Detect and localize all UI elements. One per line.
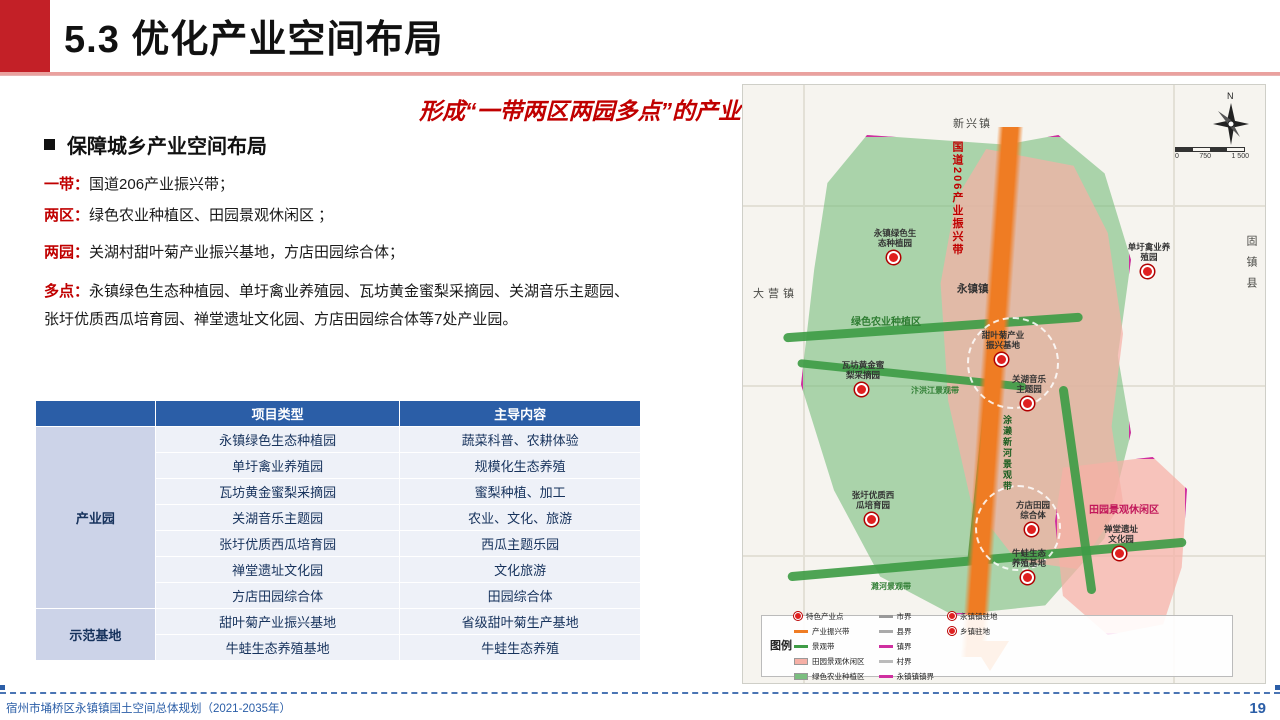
table-cell: 蜜梨种植、加工 xyxy=(400,479,641,505)
square-bullet-icon xyxy=(44,139,55,150)
table-cell: 省级甜叶菊生产基地 xyxy=(400,609,641,635)
table-cell: 西瓜主题乐园 xyxy=(400,531,641,557)
legend-item: 特色产业点 xyxy=(794,611,865,622)
legend-label: 永镇镇驻地 xyxy=(960,611,998,622)
legend-item: 永镇镇驻地 xyxy=(948,611,998,622)
point-key: 一带： xyxy=(44,176,89,193)
map-site-marker[interactable] xyxy=(1141,265,1154,278)
point-item: 两区：绿色农业种植区、田园景观休闲区 ； xyxy=(44,205,333,228)
legend-item: 景观带 xyxy=(794,641,865,652)
table-body: 产业园永镇绿色生态种植园蔬菜科普、农耕体验单圩禽业养殖园规模化生态养殖瓦坊黄金蜜… xyxy=(36,427,641,661)
corridor-label: 国道206产业振兴带 xyxy=(949,141,965,256)
footer-square-right xyxy=(1275,685,1280,690)
legend-title: 图例 xyxy=(768,640,794,652)
legend-label: 镇界 xyxy=(897,641,912,652)
table-cell: 牛蛙生态养殖基地 xyxy=(155,635,400,661)
table-cell: 农业、文化、旅游 xyxy=(400,505,641,531)
point-value: 绿色农业种植区、田园景观休闲区 ； xyxy=(89,207,333,224)
legend-swatch-icon xyxy=(879,675,893,678)
point-item: 一带：国道206产业振兴带； xyxy=(44,174,234,197)
compass-icon: N xyxy=(1211,91,1251,145)
scale-bar-ticks xyxy=(1175,147,1245,152)
header-divider-thin xyxy=(0,75,1280,76)
page-title-number: 5.3 xyxy=(64,19,120,61)
map-site-marker[interactable] xyxy=(1021,397,1034,410)
legend-item: 县界 xyxy=(879,626,935,637)
legend-label: 景观带 xyxy=(812,641,835,652)
map-road xyxy=(1173,85,1175,684)
map-site-label: 张圩优质西瓜培育园 xyxy=(843,491,903,511)
legend-item: 永镇镇镇界 xyxy=(879,671,935,682)
map-site-label: 甜叶菊产业振兴基地 xyxy=(973,331,1033,351)
table-header-cell: 主导内容 xyxy=(400,401,641,427)
map-site-marker[interactable] xyxy=(1021,571,1034,584)
legend-item: 绿色农业种植区 xyxy=(794,671,865,682)
map-site-marker[interactable] xyxy=(887,251,900,264)
compass-north-label: N xyxy=(1227,91,1234,101)
table-cell: 关湖音乐主题园 xyxy=(155,505,400,531)
zone-label: 田园景观休闲区 xyxy=(1089,501,1159,516)
header-accent-bar xyxy=(0,0,50,72)
footer-text: 宿州市埇桥区永镇镇国土空间总体规划（2021-2035年） xyxy=(6,700,291,716)
table-cell: 文化旅游 xyxy=(400,557,641,583)
legend-swatch-icon xyxy=(879,630,893,633)
legend-label: 县界 xyxy=(897,626,912,637)
point-item: 多点：永镇绿色生态种植园、单圩禽业养殖园、瓦坊黄金蜜梨采摘园、关湖音乐主题园、张… xyxy=(44,278,644,334)
table-header-cell: 项目类型 xyxy=(155,401,400,427)
legend-swatch-icon xyxy=(794,658,808,665)
map-site-marker[interactable] xyxy=(1025,523,1038,536)
point-key: 多点： xyxy=(44,283,89,300)
legend-item: 村界 xyxy=(879,656,935,667)
legend-label: 产业振兴带 xyxy=(812,626,850,637)
map-site-marker[interactable] xyxy=(1113,547,1126,560)
zone-label: 濉河景观带 xyxy=(871,581,911,592)
page-number: 19 xyxy=(1249,700,1266,717)
table-row: 示范基地甜叶菊产业振兴基地省级甜叶菊生产基地 xyxy=(36,609,641,635)
table-cell: 禅堂遗址文化园 xyxy=(155,557,400,583)
table-row: 产业园永镇绿色生态种植园蔬菜科普、农耕体验 xyxy=(36,427,641,453)
footer-square-left xyxy=(0,685,5,690)
town-label: 大营镇 xyxy=(753,285,798,301)
table-cell: 甜叶菊产业振兴基地 xyxy=(155,609,400,635)
county-label: 固镇县 xyxy=(1243,235,1259,298)
legend-swatch-icon xyxy=(794,673,808,680)
table-cell: 单圩禽业养殖园 xyxy=(155,453,400,479)
scale-tick: 1 500 xyxy=(1231,153,1249,160)
map-site-label: 禅堂遗址文化园 xyxy=(1091,525,1151,545)
page-title: 5.3 优化产业空间布局 xyxy=(64,8,443,63)
page-title-text: 优化产业空间布局 xyxy=(131,19,443,61)
point-value: 国道206产业振兴带； xyxy=(89,176,234,193)
table-cell: 方店田园综合体 xyxy=(155,583,400,609)
map-site-label: 方店田园综合体 xyxy=(1003,501,1063,521)
legend-label: 永镇镇镇界 xyxy=(897,671,935,682)
legend-swatch-icon xyxy=(879,660,893,663)
table-cell: 蔬菜科普、农耕体验 xyxy=(400,427,641,453)
zone-label: 涂濑新河景观带 xyxy=(1001,415,1014,492)
table-category-cell: 示范基地 xyxy=(36,609,156,661)
map-site-label: 永镇绿色生态种植园 xyxy=(865,229,925,249)
map-site-marker[interactable] xyxy=(995,353,1008,366)
map-site-marker[interactable] xyxy=(855,383,868,396)
legend-column: 永镇镇驻地乡镇驻地 xyxy=(948,611,998,682)
scale-tick: 0 xyxy=(1175,153,1179,160)
table-cell: 规模化生态养殖 xyxy=(400,453,641,479)
map-legend: 图例 特色产业点产业振兴带景观带田园景观休闲区绿色农业种植区市界县界镇界村界永镇… xyxy=(761,615,1233,677)
legend-item: 乡镇驻地 xyxy=(948,626,998,637)
legend-swatch-icon xyxy=(879,645,893,648)
legend-label: 特色产业点 xyxy=(806,611,844,622)
table-cell: 牛蛙生态养殖 xyxy=(400,635,641,661)
table-header-row: 项目类型 主导内容 xyxy=(36,401,641,427)
industry-table: 项目类型 主导内容 产业园永镇绿色生态种植园蔬菜科普、农耕体验单圩禽业养殖园规模… xyxy=(35,400,641,661)
legend-label: 田园景观休闲区 xyxy=(812,656,865,667)
map-site-marker[interactable] xyxy=(865,513,878,526)
legend-item: 产业振兴带 xyxy=(794,626,865,637)
scale-tick: 750 xyxy=(1199,153,1211,160)
table-cell: 田园综合体 xyxy=(400,583,641,609)
map-site-label: 牛蛙生态养殖基地 xyxy=(999,549,1059,569)
table-cell: 瓦坊黄金蜜梨采摘园 xyxy=(155,479,400,505)
legend-swatch-icon xyxy=(879,615,893,618)
table-cell: 永镇绿色生态种植园 xyxy=(155,427,400,453)
legend-swatch-icon xyxy=(794,630,808,633)
table-cell: 张圩优质西瓜培育园 xyxy=(155,531,400,557)
legend-column: 特色产业点产业振兴带景观带田园景观休闲区绿色农业种植区 xyxy=(794,611,865,682)
point-value: 关湖村甜叶菊产业振兴基地，方店田园综合体； xyxy=(89,244,404,261)
table-header-cell xyxy=(36,401,156,427)
legend-swatch-icon xyxy=(794,645,808,648)
legend-columns: 特色产业点产业振兴带景观带田园景观休闲区绿色农业种植区市界县界镇界村界永镇镇镇界… xyxy=(794,611,1226,682)
legend-item: 市界 xyxy=(879,611,935,622)
zone-label: 汴洪江景观带 xyxy=(911,385,959,396)
legend-swatch-icon xyxy=(948,627,956,635)
legend-swatch-icon xyxy=(948,612,956,620)
legend-label: 绿色农业种植区 xyxy=(812,671,865,682)
map-site-label: 单圩禽业养殖园 xyxy=(1119,243,1179,263)
legend-item: 田园景观休闲区 xyxy=(794,656,865,667)
legend-label: 市界 xyxy=(897,611,912,622)
footer-divider xyxy=(0,692,1280,694)
table-category-cell: 产业园 xyxy=(36,427,156,609)
legend-swatch-icon xyxy=(794,612,802,620)
point-value: 永镇绿色生态种植园、单圩禽业养殖园、瓦坊黄金蜜梨采摘园、关湖音乐主题园、张圩优质… xyxy=(44,283,629,328)
zone-label: 绿色农业种植区 xyxy=(851,313,921,328)
map-site-label: 关湖音乐主题园 xyxy=(999,375,1059,395)
legend-column: 市界县界镇界村界永镇镇镇界 xyxy=(879,611,935,682)
map-panel[interactable]: 国道206产业振兴带 绿色农业种植区 田园景观休闲区 汴洪江景观带 涂濑新河景观… xyxy=(742,84,1266,684)
legend-item: 镇界 xyxy=(879,641,935,652)
scale-bar: 0 750 1 500 xyxy=(1175,147,1249,160)
point-key: 两园： xyxy=(44,244,89,261)
section-heading: 保障城乡产业空间布局 xyxy=(44,130,267,159)
map-site-label: 瓦坊黄金蜜梨采摘园 xyxy=(833,361,893,381)
point-item: 两园：关湖村甜叶菊产业振兴基地，方店田园综合体； xyxy=(44,242,404,265)
legend-label: 乡镇驻地 xyxy=(960,626,990,637)
section-heading-label: 保障城乡产业空间布局 xyxy=(67,130,267,159)
point-key: 两区： xyxy=(44,207,89,224)
town-label: 新兴镇 xyxy=(953,115,992,131)
legend-label: 村界 xyxy=(897,656,912,667)
town-label: 永镇镇 xyxy=(957,281,989,296)
